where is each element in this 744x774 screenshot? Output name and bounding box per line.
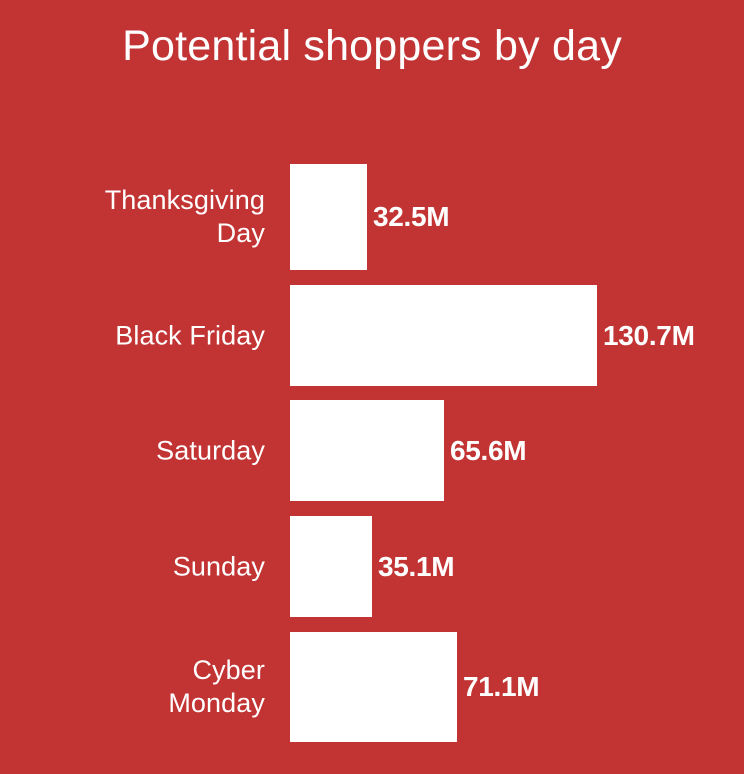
bar-value-label: 35.1M: [378, 551, 454, 583]
plot-area: Thanksgiving Day 32.5M Black Friday 130.…: [0, 152, 744, 757]
bar-value-label: 32.5M: [373, 201, 449, 233]
chart-title: Potential shoppers by day: [0, 22, 744, 71]
bar-track: 71.1M: [290, 632, 457, 742]
bar-row: Black Friday 130.7M: [0, 285, 744, 386]
bar-value-label: 71.1M: [463, 671, 539, 703]
bar[interactable]: [290, 632, 457, 742]
bar-row: Sunday 35.1M: [0, 516, 744, 617]
bar[interactable]: [290, 400, 444, 501]
bar-row: Cyber Monday 71.1M: [0, 632, 744, 742]
bar-row: Saturday 65.6M: [0, 400, 744, 501]
bar-category-label: Sunday: [5, 550, 265, 583]
bar-category-label: Black Friday: [5, 319, 265, 352]
bar-value-label: 130.7M: [603, 320, 695, 352]
bar[interactable]: [290, 285, 597, 386]
bar[interactable]: [290, 164, 367, 270]
bar-category-label: Saturday: [5, 434, 265, 467]
bar-track: 32.5M: [290, 164, 367, 270]
bar[interactable]: [290, 516, 372, 617]
bar-category-label: Thanksgiving Day: [5, 184, 265, 250]
bar-track: 65.6M: [290, 400, 444, 501]
bar-value-label: 65.6M: [450, 435, 526, 467]
bar-category-label: Cyber Monday: [5, 654, 265, 720]
chart-container: Potential shoppers by day Thanksgiving D…: [0, 0, 744, 774]
bar-row: Thanksgiving Day 32.5M: [0, 164, 744, 270]
bar-track: 130.7M: [290, 285, 597, 386]
bar-track: 35.1M: [290, 516, 372, 617]
